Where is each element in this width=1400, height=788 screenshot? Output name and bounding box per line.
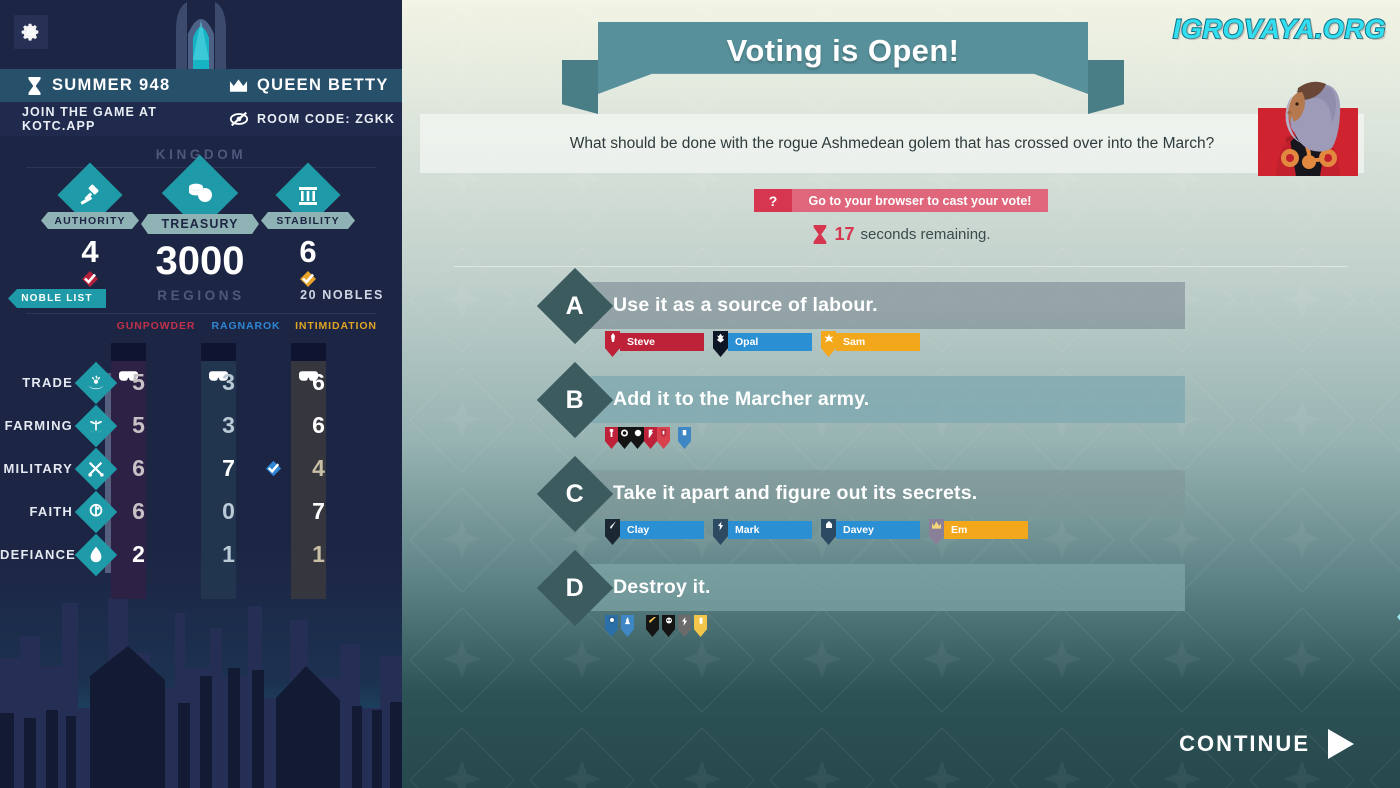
blue-check-mark xyxy=(256,455,291,482)
region-row-label: TRADE xyxy=(0,375,78,390)
region-rows: TRADE 5 3 6 FARMING xyxy=(0,361,402,576)
mini-voter-tower[interactable] xyxy=(605,427,618,449)
join-label: JOIN THE GAME AT KOTC.APP xyxy=(22,105,195,133)
regions-divider xyxy=(26,313,376,314)
cast-vote-text: Go to your browser to cast your vote! xyxy=(792,189,1048,212)
cell-value: 1 xyxy=(291,541,346,568)
stat-stability-value: 6 xyxy=(256,236,360,267)
cell-value: 3 xyxy=(201,412,256,439)
blue-check-icon xyxy=(264,459,283,478)
option-c-voters: Clay Mark Davey xyxy=(605,521,1028,539)
farming-icon-wrap xyxy=(75,404,117,446)
voter-name: Sam xyxy=(836,333,920,351)
option-a-letter: A xyxy=(537,268,613,344)
option-c-bar[interactable]: Take it apart and figure out its secrets… xyxy=(565,470,1185,517)
cell-value: 0 xyxy=(201,498,256,525)
banner-icon xyxy=(660,429,667,438)
option-d-letter: D xyxy=(537,550,613,626)
timer-value: 17 xyxy=(834,224,854,245)
voter-badge[interactable]: Steve xyxy=(605,333,704,351)
season-display: SUMMER 948 xyxy=(0,76,199,96)
options-list: Use it as a source of labour. A Steve xyxy=(402,273,1400,649)
stat-stability[interactable]: STABILITY 6 xyxy=(256,172,360,294)
options-divider xyxy=(454,266,1348,267)
stat-treasury[interactable]: TREASURY 3000 xyxy=(138,166,262,281)
continue-button[interactable]: CONTINUE xyxy=(1179,726,1358,762)
voter-name: Em xyxy=(944,521,1028,539)
defiance-icon-wrap xyxy=(75,533,117,575)
voter-badge[interactable]: Em xyxy=(929,521,1028,539)
gavel-icon xyxy=(78,183,102,207)
option-c-label: Take it apart and figure out its secrets… xyxy=(613,482,977,505)
region-row-values: 2 1 1 xyxy=(111,541,381,568)
region-row-values: 5 3 6 xyxy=(111,369,381,396)
pillar-icon xyxy=(296,183,320,207)
join-info: JOIN THE GAME AT KOTC.APP xyxy=(0,105,195,133)
bolt2-icon xyxy=(681,617,688,626)
mini-voter-dagger[interactable] xyxy=(646,615,659,637)
nobles-count: 20 NOBLES xyxy=(300,288,384,302)
mini-voter-moon[interactable] xyxy=(631,427,644,449)
kingdom-stats: AUTHORITY 4 TREASURY 3000 xyxy=(0,164,402,284)
defiance-icon xyxy=(87,546,105,564)
option-b-voters xyxy=(605,427,691,449)
military-icon-wrap xyxy=(75,447,117,489)
ring-icon xyxy=(621,429,628,437)
cell-value: 5 xyxy=(111,412,166,439)
region-row-faith[interactable]: FAITH 6 0 7 xyxy=(0,490,402,533)
stat-authority[interactable]: AUTHORITY 4 xyxy=(30,172,150,294)
settings-button[interactable] xyxy=(14,15,48,49)
mini-voter-bolt2[interactable] xyxy=(678,615,691,637)
tower-icon xyxy=(608,429,615,438)
mini-voter-shield[interactable] xyxy=(605,615,618,637)
quill-icon-pin xyxy=(605,519,620,545)
quill-icon xyxy=(609,521,617,531)
orange-check-marker-icon xyxy=(298,269,318,289)
red-check-marker-icon xyxy=(80,269,100,289)
option-a[interactable]: Use it as a source of labour. A Steve xyxy=(402,273,1400,367)
option-d-voters xyxy=(605,615,707,637)
cell-value: 7 xyxy=(201,455,256,482)
stat-stability-tag: STABILITY xyxy=(261,212,355,229)
game-screen: SUMMER 948 QUEEN BETTY JOIN THE GAME AT … xyxy=(0,0,1400,788)
voter-name: Clay xyxy=(620,521,704,539)
watermark: IGROVAYA.ORG xyxy=(1173,14,1386,45)
faith-icon xyxy=(87,503,105,521)
status-bar: SUMMER 948 QUEEN BETTY xyxy=(0,69,402,102)
option-d[interactable]: Destroy it. D xyxy=(402,555,1400,649)
voter-name: Steve xyxy=(620,333,704,351)
question-text: What should be done with the rogue Ashme… xyxy=(570,135,1215,153)
timer-suffix: seconds remaining. xyxy=(860,226,990,243)
cell-value: 4 xyxy=(291,455,346,482)
griffin-icon xyxy=(716,333,725,345)
eye-off-icon xyxy=(229,111,249,127)
military-icon xyxy=(87,460,105,478)
bolt-icon xyxy=(717,521,724,531)
crown2-icon-pin xyxy=(929,519,944,545)
coins-icon xyxy=(186,180,214,206)
main-panel: IGROVAYA.ORG Voting is Open! What should… xyxy=(402,0,1400,788)
sun-icon xyxy=(824,333,834,344)
stat-treasury-value: 3000 xyxy=(138,241,262,281)
banner2-icon xyxy=(698,617,704,626)
region-row-values: 5 3 6 xyxy=(111,412,381,439)
cell-value: 6 xyxy=(111,455,166,482)
cell-value: 5 xyxy=(111,369,166,396)
cast-vote-qmark: ? xyxy=(754,189,792,212)
option-d-label: Destroy it. xyxy=(613,576,711,599)
shield-icon xyxy=(608,617,616,625)
trade-icon xyxy=(87,374,105,392)
cell-value: 6 xyxy=(111,498,166,525)
flag-icon xyxy=(647,429,654,439)
region-row-farming[interactable]: FARMING 5 3 6 xyxy=(0,404,402,447)
voter-name: Davey xyxy=(836,521,920,539)
voter-name: Opal xyxy=(728,333,812,351)
cell-value: 1 xyxy=(201,541,256,568)
mini-voter-tower2[interactable] xyxy=(678,427,691,449)
region-row-trade[interactable]: TRADE 5 3 6 xyxy=(0,361,402,404)
region-row-label: FARMING xyxy=(0,418,78,433)
trade-icon-wrap xyxy=(75,361,117,403)
fist-icon-pin xyxy=(821,519,836,545)
noble-list-label: NOBLE LIST xyxy=(21,293,92,304)
voter-badge[interactable]: Davey xyxy=(821,521,920,539)
advisor-portrait xyxy=(1252,80,1364,176)
option-c-letter: C xyxy=(537,456,613,532)
room-code-info[interactable]: ROOM CODE: ZGKK xyxy=(195,111,402,127)
option-b-label: Add it to the Marcher army. xyxy=(613,388,869,411)
cell-value: 2 xyxy=(111,541,166,568)
season-label: SUMMER 948 xyxy=(52,76,170,95)
stat-authority-value: 4 xyxy=(30,236,150,267)
mini-voter-skull[interactable] xyxy=(662,615,675,637)
region-row-label: MILITARY xyxy=(0,461,78,476)
sword-icon-pin xyxy=(605,331,620,357)
region-row-label: FAITH xyxy=(0,504,78,519)
timer: 17 seconds remaining. xyxy=(811,224,990,245)
voting-banner: Voting is Open! xyxy=(598,22,1088,94)
option-b-bar[interactable]: Add it to the Marcher army. xyxy=(565,376,1185,423)
bolt-icon-pin xyxy=(713,519,728,545)
region-row-label: DEFIANCE xyxy=(0,547,78,562)
hourglass-icon xyxy=(26,76,43,96)
voter-badge[interactable]: Opal xyxy=(713,333,812,351)
option-c[interactable]: Take it apart and figure out its secrets… xyxy=(402,461,1400,555)
griffin-icon-pin xyxy=(713,331,728,357)
faith-icon-wrap xyxy=(75,490,117,532)
option-a-bar[interactable]: Use it as a source of labour. xyxy=(565,282,1185,329)
crown2-icon xyxy=(932,521,941,530)
region-row-values: 6 0 7 xyxy=(111,498,381,525)
region-row-defiance[interactable]: DEFIANCE 2 1 1 xyxy=(0,533,402,576)
ruler-display: QUEEN BETTY xyxy=(199,76,402,95)
cast-vote-banner[interactable]: ? Go to your browser to cast your vote! xyxy=(754,189,1048,212)
voter-badge[interactable]: Mark xyxy=(713,521,812,539)
option-d-bar[interactable]: Destroy it. xyxy=(565,564,1185,611)
region-name-2: INTIMIDATION xyxy=(291,320,381,332)
option-b[interactable]: Add it to the Marcher army. B xyxy=(402,367,1400,461)
kingdom-sidebar: SUMMER 948 QUEEN BETTY JOIN THE GAME AT … xyxy=(0,0,402,788)
option-a-label: Use it as a source of labour. xyxy=(613,294,878,317)
tree-icon xyxy=(624,617,631,626)
mini-voter-tree[interactable] xyxy=(621,615,634,637)
region-row-military[interactable]: MILITARY 6 7 xyxy=(0,447,402,490)
question-box: What should be done with the rogue Ashme… xyxy=(420,114,1364,173)
voter-name: Mark xyxy=(728,521,812,539)
fist-icon xyxy=(825,521,833,530)
farming-icon xyxy=(87,417,105,435)
play-arrow-icon xyxy=(1324,726,1358,762)
mini-voter-flag[interactable] xyxy=(644,427,657,449)
continue-label: CONTINUE xyxy=(1179,731,1310,757)
dagger-icon xyxy=(649,617,657,626)
voter-badge[interactable]: Sam xyxy=(821,333,920,351)
cell-value: 7 xyxy=(291,498,346,525)
stat-treasury-tag: TREASURY xyxy=(141,214,259,234)
region-row-values: 6 7 4 xyxy=(111,455,381,482)
option-a-voters: Steve Opal Sam xyxy=(605,333,920,351)
crown-icon xyxy=(229,78,248,94)
cell-value: 6 xyxy=(291,369,346,396)
banner-title: Voting is Open! xyxy=(598,33,1088,69)
mini-voter-banner2[interactable] xyxy=(694,615,707,637)
moon-icon xyxy=(634,429,642,437)
region-name-1: RAGNAROK xyxy=(201,320,291,332)
noble-list-button[interactable]: NOBLE LIST xyxy=(8,289,106,308)
hourglass-icon xyxy=(811,224,828,245)
mini-voter-banner[interactable] xyxy=(657,427,670,449)
option-b-letter: B xyxy=(537,362,613,438)
cell-value: 3 xyxy=(201,369,256,396)
voter-badge[interactable]: Clay xyxy=(605,521,704,539)
room-code-label: ROOM CODE: ZGKK xyxy=(257,112,395,126)
tower2-icon xyxy=(681,429,688,438)
region-names-row: GUNPOWDER RAGNAROK INTIMIDATION xyxy=(111,320,381,332)
cell-value: 6 xyxy=(291,412,346,439)
gear-icon xyxy=(20,21,42,43)
mini-voter-ring[interactable] xyxy=(618,427,631,449)
sword-icon xyxy=(609,333,617,345)
sun-icon-pin xyxy=(821,331,836,357)
stat-authority-tag: AUTHORITY xyxy=(41,212,139,229)
region-name-0: GUNPOWDER xyxy=(111,320,201,332)
skull-icon xyxy=(665,617,673,625)
ruler-label: QUEEN BETTY xyxy=(257,76,389,95)
join-bar: JOIN THE GAME AT KOTC.APP ROOM CODE: ZGK… xyxy=(0,102,402,136)
